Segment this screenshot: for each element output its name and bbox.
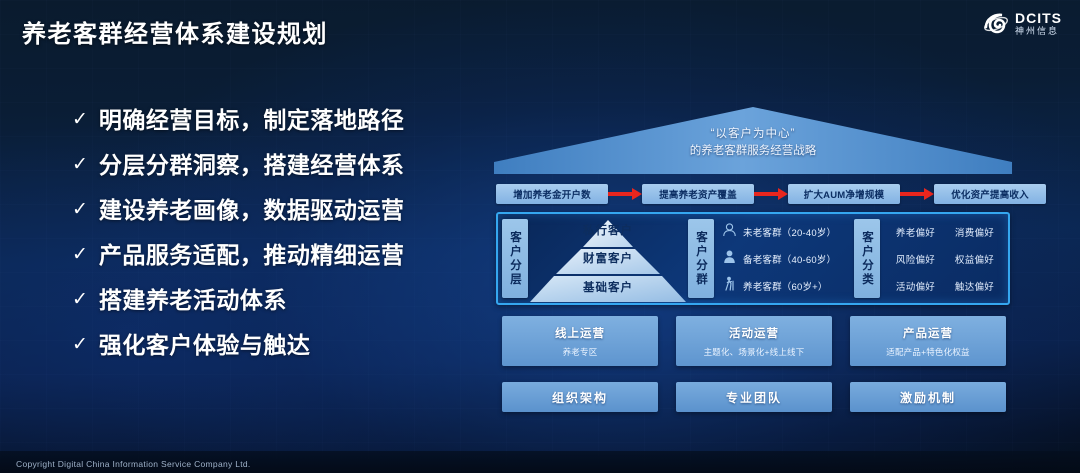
copyright-text: Copyright Digital China Information Serv… xyxy=(16,459,251,469)
roof-text: “以客户为中心” 的养老客群服务经营战略 xyxy=(494,126,1012,160)
check-icon: ✓ xyxy=(72,329,88,361)
check-icon: ✓ xyxy=(72,104,88,136)
segment-list: 未老客群（20-40岁） 备老客群（40-60岁） 养老客群（60岁+） xyxy=(714,218,854,299)
preference-tag: 权益偏好 xyxy=(955,252,994,266)
support-card[interactable]: 组织架构 xyxy=(502,382,658,412)
support-row: 组织架构 专业团队 激励机制 xyxy=(502,382,1006,412)
operations-row: 线上运营 养老专区 活动运营 主题化、场景化+线上线下 产品运营 适配产品+特色… xyxy=(502,316,1006,366)
operation-card[interactable]: 产品运营 适配产品+特色化权益 xyxy=(850,316,1006,366)
elderly-person-icon xyxy=(722,276,737,296)
operation-subtitle: 主题化、场景化+线上线下 xyxy=(704,346,805,358)
arrow-right-icon xyxy=(754,188,788,200)
customer-panel: 客户分层 xyxy=(496,212,1010,305)
slide-canvas: 养老客群经营体系建设规划 DCITS 神州信息 ✓ 明确经营目标，制定落地路径 … xyxy=(0,0,1080,473)
operation-title: 活动运营 xyxy=(729,325,779,341)
list-item: 备老客群（40-60岁） xyxy=(722,249,854,269)
arrow-right-icon xyxy=(900,188,934,200)
customer-pyramid: 私行客户 财富客户 基础客户 xyxy=(528,218,688,303)
bullet-text: 强化客户体验与触达 xyxy=(99,329,311,361)
support-card[interactable]: 专业团队 xyxy=(676,382,832,412)
goal-box[interactable]: 扩大AUM净增规模 xyxy=(788,184,900,204)
segment-label: 未老客群（20-40岁） xyxy=(743,225,836,239)
check-icon: ✓ xyxy=(72,284,88,316)
goal-box[interactable]: 优化资产提高收入 xyxy=(934,184,1046,204)
strategy-diagram: “以客户为中心” 的养老客群服务经营战略 增加养老金开户数 提高养老资产覆盖 扩… xyxy=(494,100,1012,430)
young-person-icon xyxy=(722,222,737,242)
list-item: ✓ 搭建养老活动体系 xyxy=(72,284,472,316)
bullet-list: ✓ 明确经营目标，制定落地路径 ✓ 分层分群洞察，搭建经营体系 ✓ 建设养老画像… xyxy=(72,104,472,374)
segment-label: 养老客群（60岁+） xyxy=(743,279,828,293)
operation-subtitle: 适配产品+特色化权益 xyxy=(886,346,969,358)
list-item: ✓ 明确经营目标，制定落地路径 xyxy=(72,104,472,136)
arrow-right-icon xyxy=(608,188,642,200)
brand-logo: DCITS 神州信息 xyxy=(983,11,1062,36)
segment-label: 备老客群（40-60岁） xyxy=(743,252,836,266)
preference-tag: 消费偏好 xyxy=(955,225,994,239)
roof-line-2: 的养老客群服务经营战略 xyxy=(494,143,1012,160)
segment-tab[interactable]: 客户分群 xyxy=(688,219,714,298)
operation-title: 线上运营 xyxy=(555,325,605,341)
list-item: 未老客群（20-40岁） xyxy=(722,222,854,242)
preference-grid: 养老偏好 消费偏好 风险偏好 权益偏好 活动偏好 触达偏好 xyxy=(880,218,1004,299)
goal-chain: 增加养老金开户数 提高养老资产覆盖 扩大AUM净增规模 优化资产提高收入 xyxy=(496,183,1010,205)
goal-box[interactable]: 增加养老金开户数 xyxy=(496,184,608,204)
list-item: ✓ 产品服务适配，推动精细运营 xyxy=(72,239,472,271)
pyramid-label: 基础客户 xyxy=(528,279,688,295)
preference-tag: 风险偏好 xyxy=(896,252,935,266)
logo-text-en: DCITS xyxy=(1015,11,1062,25)
logo-text-cn: 神州信息 xyxy=(1015,27,1062,36)
support-card[interactable]: 激励机制 xyxy=(850,382,1006,412)
list-item: 养老客群（60岁+） xyxy=(722,276,854,296)
pyramid-label: 财富客户 xyxy=(528,250,688,266)
check-icon: ✓ xyxy=(72,194,88,226)
tier-tab[interactable]: 客户分层 xyxy=(502,219,528,298)
strategy-roof: “以客户为中心” 的养老客群服务经营战略 xyxy=(494,100,1012,182)
preference-tag: 活动偏好 xyxy=(896,279,935,293)
bullet-text: 搭建养老活动体系 xyxy=(99,284,287,316)
swirl-logo-icon xyxy=(983,12,1009,36)
page-title: 养老客群经营体系建设规划 xyxy=(22,14,328,49)
preference-tag: 触达偏好 xyxy=(955,279,994,293)
bullet-text: 建设养老画像，数据驱动运营 xyxy=(99,194,405,226)
goal-box[interactable]: 提高养老资产覆盖 xyxy=(642,184,754,204)
category-tab[interactable]: 客户分类 xyxy=(854,219,880,298)
operation-title: 产品运营 xyxy=(903,325,953,341)
roof-line-1: “以客户为中心” xyxy=(494,126,1012,143)
bullet-text: 明确经营目标，制定落地路径 xyxy=(99,104,405,136)
list-item: ✓ 强化客户体验与触达 xyxy=(72,329,472,361)
operation-card[interactable]: 线上运营 养老专区 xyxy=(502,316,658,366)
check-icon: ✓ xyxy=(72,239,88,271)
middle-aged-person-icon xyxy=(722,249,737,269)
operation-card[interactable]: 活动运营 主题化、场景化+线上线下 xyxy=(676,316,832,366)
check-icon: ✓ xyxy=(72,149,88,181)
operation-subtitle: 养老专区 xyxy=(563,346,598,358)
pyramid-label: 私行客户 xyxy=(528,222,688,238)
bullet-text: 分层分群洞察，搭建经营体系 xyxy=(99,149,405,181)
list-item: ✓ 分层分群洞察，搭建经营体系 xyxy=(72,149,472,181)
list-item: ✓ 建设养老画像，数据驱动运营 xyxy=(72,194,472,226)
preference-tag: 养老偏好 xyxy=(896,225,935,239)
bullet-text: 产品服务适配，推动精细运营 xyxy=(99,239,405,271)
